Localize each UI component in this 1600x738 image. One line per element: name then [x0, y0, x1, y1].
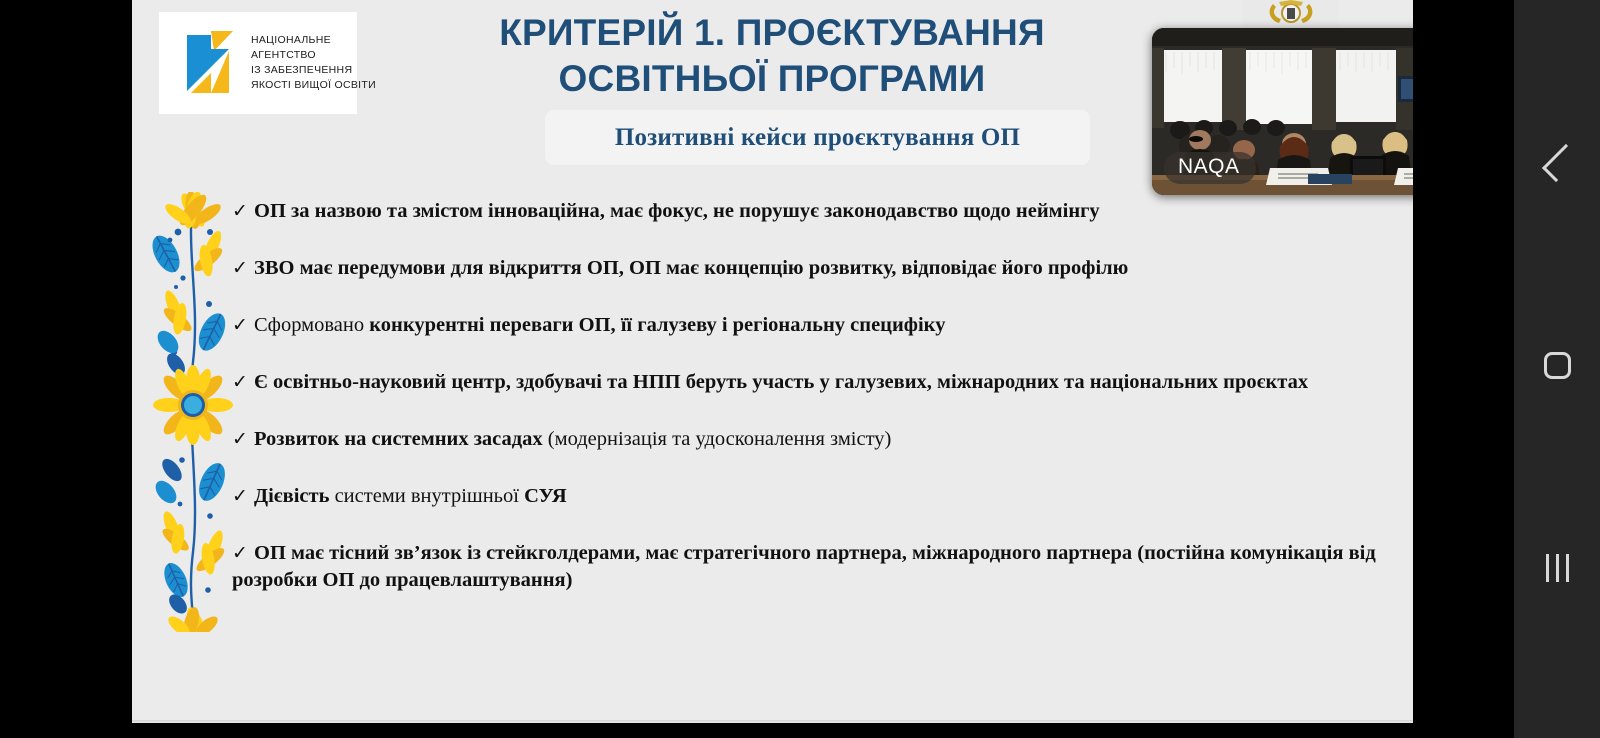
floral-ornament-icon — [152, 192, 234, 632]
check-icon: ✓ — [232, 313, 254, 338]
screen-letterbox — [1413, 0, 1514, 738]
logo-line-2: АГЕНТСТВО — [251, 48, 376, 63]
naqa-logo-text: НАЦІОНАЛЬНЕ АГЕНТСТВО ІЗ ЗАБЕЗПЕЧЕННЯ ЯК… — [251, 33, 376, 93]
bullet-item-3: ✓Сформовано конкурентні переваги ОП, її … — [232, 312, 1407, 339]
check-icon: ✓ — [232, 199, 254, 224]
chevron-left-icon — [1542, 144, 1580, 182]
bullet-item-4: ✓Є освітньо-науковий центр, здобувачі та… — [232, 369, 1407, 396]
nav-back-button[interactable] — [1514, 127, 1600, 199]
bullet-list: ✓ОП за назвою та змістом інноваційна, ма… — [232, 198, 1407, 624]
bullet-item-7: ✓ОП має тісний зв’язок із стейкголдерами… — [232, 540, 1407, 594]
state-emblem-icon — [1243, 0, 1339, 26]
home-square-icon — [1544, 352, 1571, 379]
slide-subtitle: Позитивні кейси проєктування ОП — [615, 124, 1020, 152]
logo-line-4: ЯКОСТІ ВИЩОЇ ОСВІТИ — [251, 78, 376, 93]
bullet-1-text: ОП за назвою та змістом інноваційна, має… — [254, 200, 1100, 222]
android-navigation-bar — [1514, 0, 1600, 738]
bullet-2-text: ЗВО має передумови для відкриття ОП, ОП … — [254, 257, 1128, 279]
bullet-6-text-bold-a: Дієвість — [254, 485, 329, 507]
check-icon: ✓ — [232, 484, 254, 509]
slide-title: КРИТЕРІЙ 1. ПРОЄКТУВАННЯ ОСВІТНЬОЇ ПРОГР… — [422, 10, 1122, 103]
logo-line-1: НАЦІОНАЛЬНЕ — [251, 33, 376, 48]
phone-screen: НАЦІОНАЛЬНЕ АГЕНТСТВО ІЗ ЗАБЕЗПЕЧЕННЯ ЯК… — [0, 0, 1600, 738]
bullet-item-1: ✓ОП за назвою та змістом інноваційна, ма… — [232, 198, 1407, 225]
bullet-item-2: ✓ЗВО має передумови для відкриття ОП, ОП… — [232, 255, 1407, 282]
bullet-3-text-bold: конкурентні переваги ОП, її галузеву і р… — [369, 314, 945, 336]
bullet-7-text: ОП має тісний зв’язок із стейкголдерами,… — [232, 542, 1376, 591]
bullet-5-text-regular: (модернізація та удосконалення змісту) — [543, 428, 892, 450]
nav-recents-button[interactable] — [1514, 532, 1600, 604]
bullet-item-6: ✓Дієвість системи внутрішньої СУЯ — [232, 483, 1407, 510]
bullet-6-text-bold-b: СУЯ — [524, 485, 567, 507]
check-icon: ✓ — [232, 427, 254, 452]
naqa-logo-mark — [181, 25, 241, 101]
check-icon: ✓ — [232, 541, 254, 566]
recents-bars-icon — [1546, 554, 1569, 582]
bullet-4-text: Є освітньо-науковий центр, здобувачі та … — [254, 371, 1308, 393]
check-icon: ✓ — [232, 256, 254, 281]
video-participant-label: NAQA — [1164, 152, 1256, 184]
logo-line-3: ІЗ ЗАБЕЗПЕЧЕННЯ — [251, 63, 376, 78]
bullet-item-5: ✓Розвиток на системних засадах (модерніз… — [232, 426, 1407, 453]
nav-home-button[interactable] — [1514, 329, 1600, 401]
bullet-6-text-regular: системи внутрішньої — [329, 485, 524, 507]
slide-subtitle-box: Позитивні кейси проєктування ОП — [545, 110, 1090, 165]
video-thumbnail[interactable]: NAQA — [1152, 28, 1456, 195]
bullet-5-text-bold: Розвиток на системних засадах — [254, 428, 543, 450]
naqa-logo: НАЦІОНАЛЬНЕ АГЕНТСТВО ІЗ ЗАБЕЗПЕЧЕННЯ ЯК… — [159, 12, 357, 114]
bullet-3-text-regular: Сформовано — [254, 314, 369, 336]
check-icon: ✓ — [232, 370, 254, 395]
